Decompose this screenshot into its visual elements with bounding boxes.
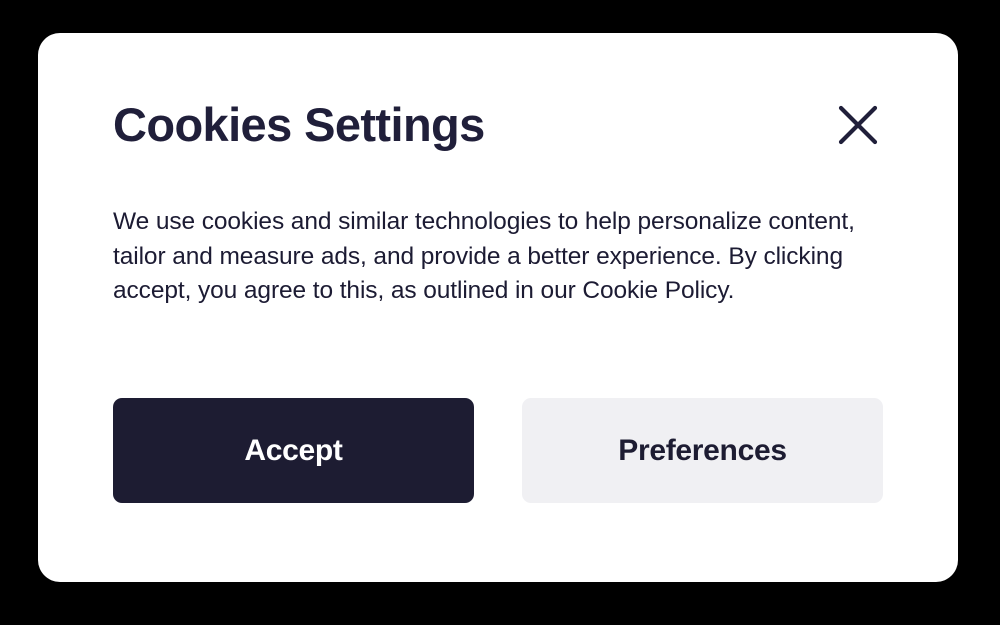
dialog-content: Cookies Settings We use cookies and simi… — [38, 33, 958, 582]
accept-button[interactable]: Accept — [113, 398, 474, 503]
close-button[interactable] — [834, 101, 882, 149]
page-title: Cookies Settings — [113, 96, 485, 154]
cookies-settings-dialog: Cookies Settings We use cookies and simi… — [38, 33, 958, 582]
dialog-actions: Accept Preferences — [113, 398, 883, 503]
dialog-description: We use cookies and similar technologies … — [113, 205, 896, 309]
preferences-button[interactable]: Preferences — [522, 398, 883, 503]
dialog-header: Cookies Settings — [113, 100, 920, 160]
close-icon — [838, 105, 878, 145]
